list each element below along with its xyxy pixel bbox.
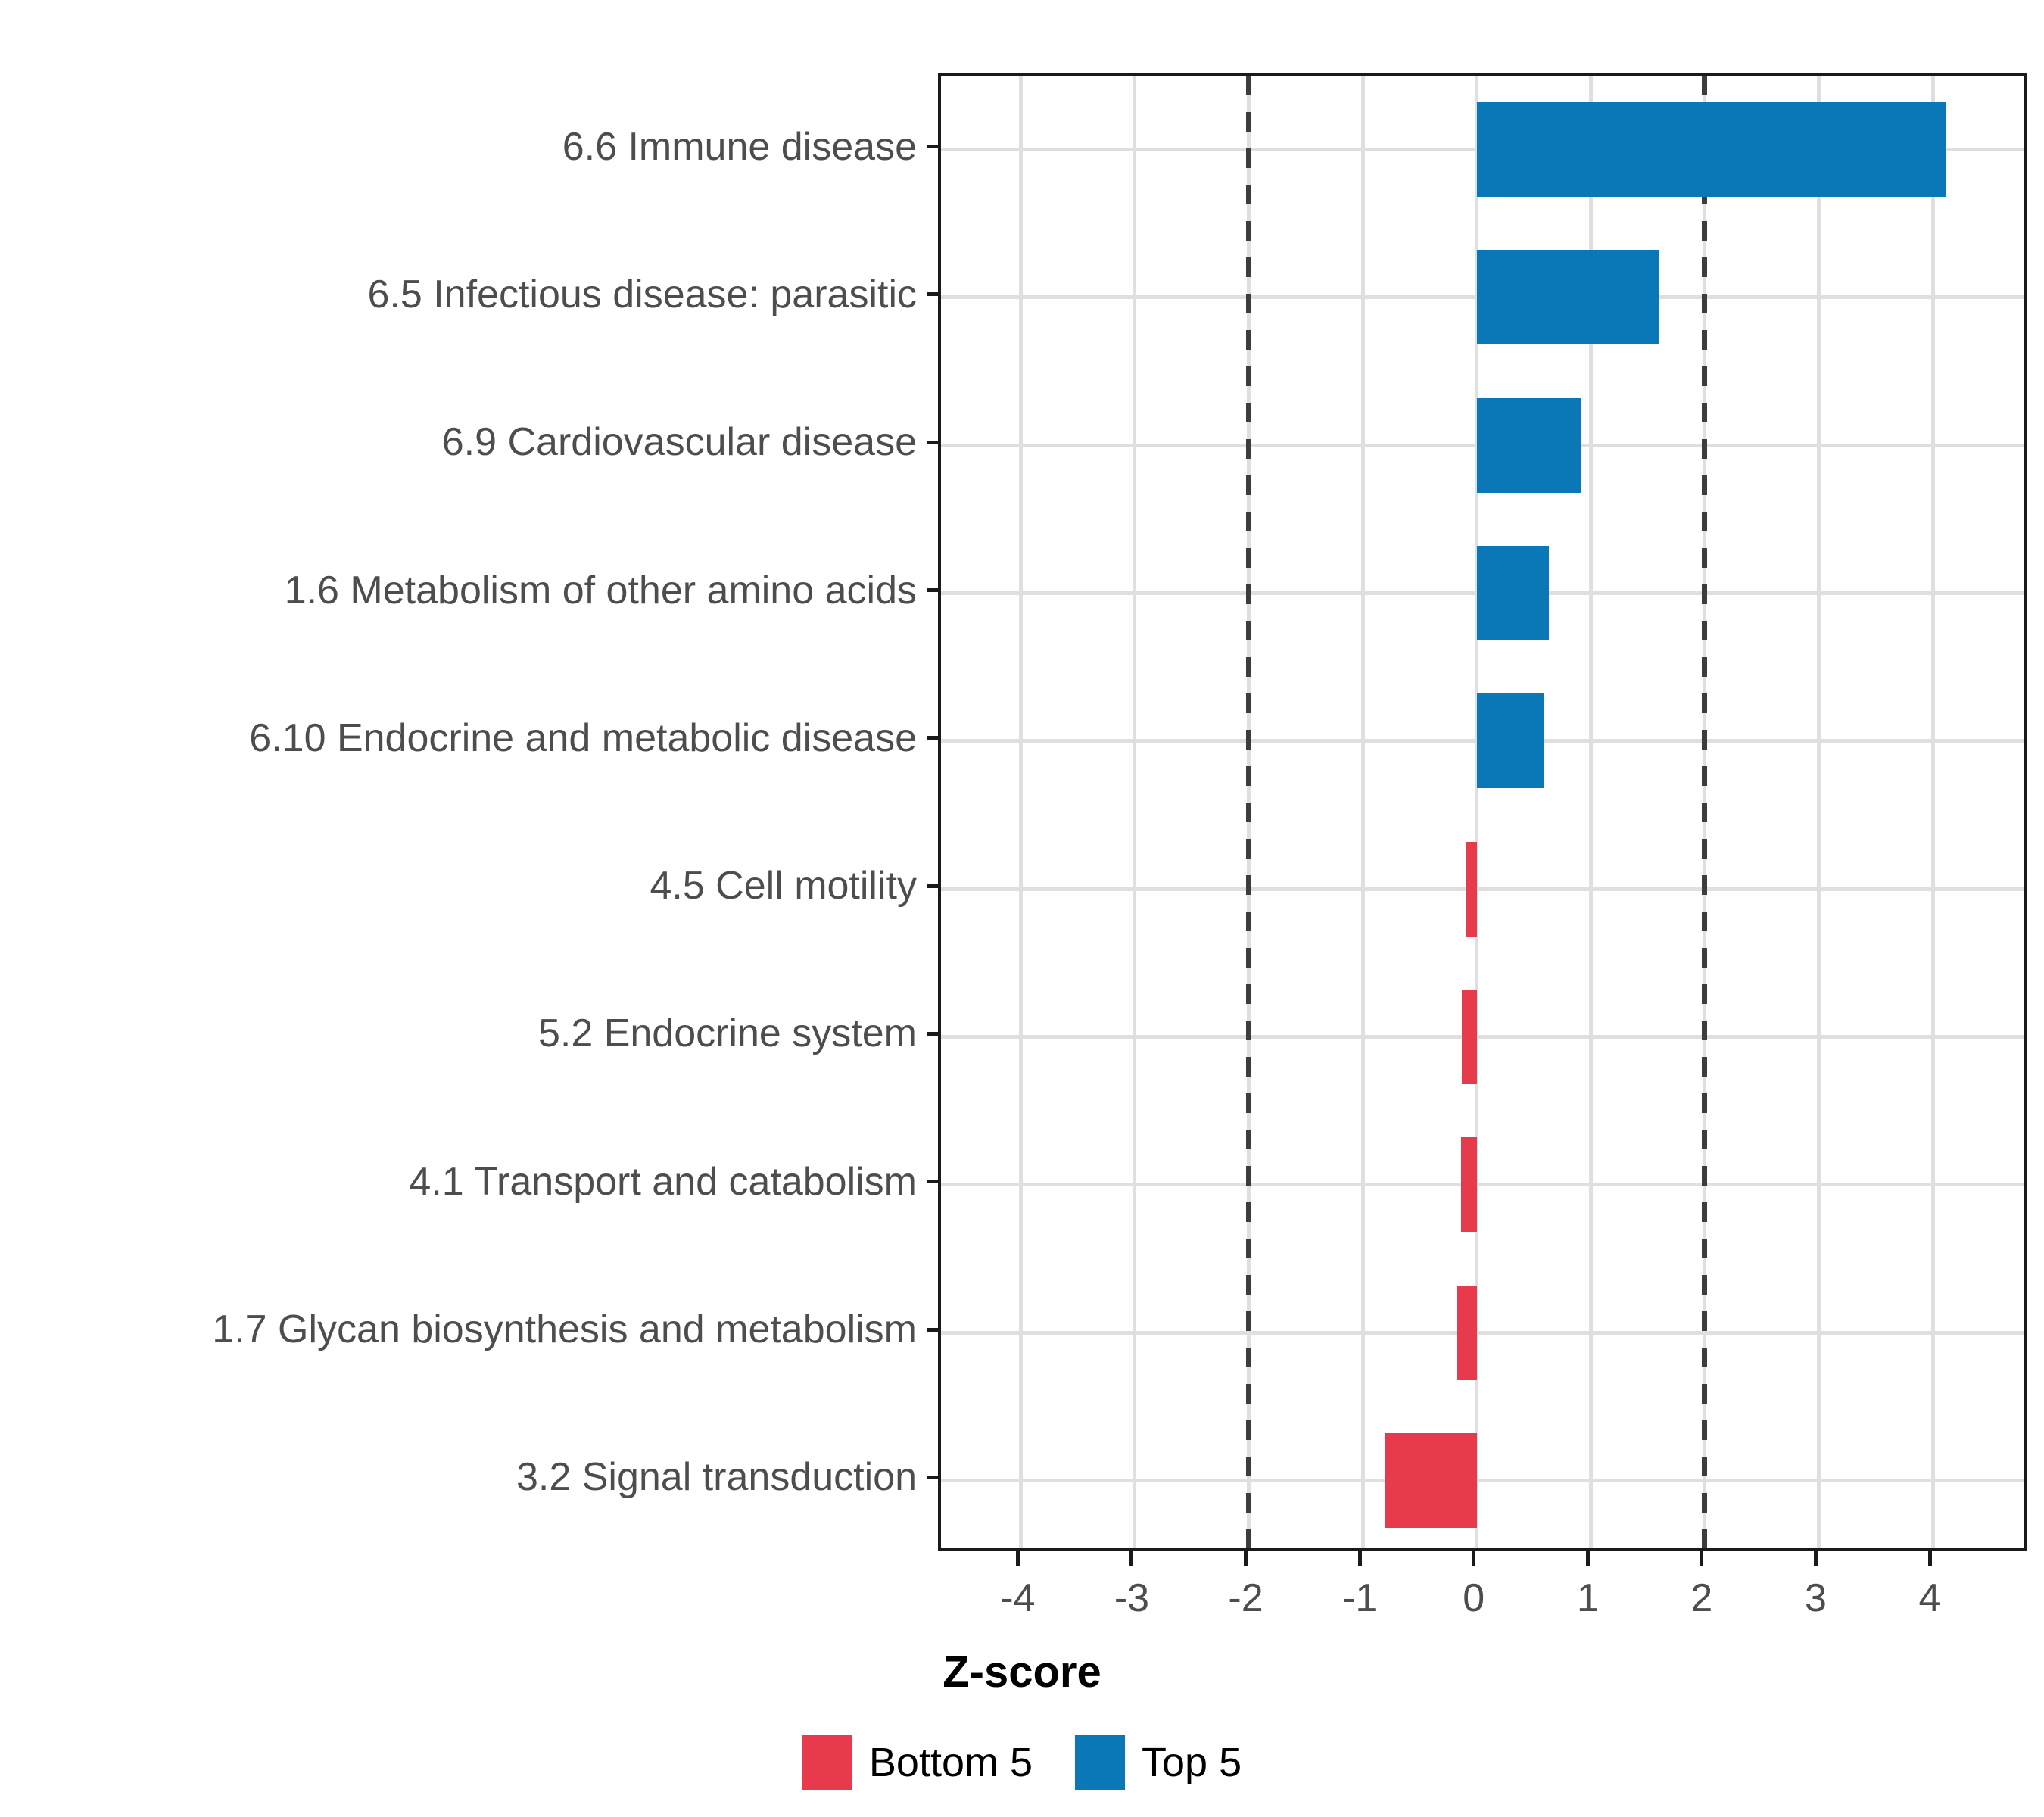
reference-line [1246,76,1251,1548]
y-axis-label: 4.1 Transport and catabolism [0,1162,917,1201]
x-axis-tick-label: 2 [1690,1579,1712,1618]
x-axis-tick [1586,1551,1590,1566]
y-axis-label: 4.5 Cell motility [0,866,917,905]
x-axis-tick [1358,1551,1362,1566]
x-axis-tick-label: 4 [1919,1579,1941,1618]
x-axis-tick [1016,1551,1020,1566]
horizontal-gridline [941,1035,2024,1039]
horizontal-gridline [941,1479,2024,1482]
y-axis-tick [927,292,938,296]
legend-swatch-icon [1075,1735,1125,1790]
x-axis-tick-label: -1 [1342,1579,1377,1618]
bar[interactable] [1457,1286,1477,1380]
y-axis-label: 1.6 Metabolism of other amino acids [0,571,917,610]
bar[interactable] [1477,546,1549,640]
legend-swatch-icon [802,1735,852,1790]
x-axis-tick [1700,1551,1703,1566]
bar[interactable] [1462,990,1477,1084]
y-axis-label: 3.2 Signal transduction [0,1457,917,1497]
y-axis-tick [927,736,938,740]
y-axis-tick [927,588,938,592]
bar[interactable] [1477,250,1659,344]
legend-label: Top 5 [1142,1742,1242,1783]
y-axis-tick [927,884,938,888]
legend-item[interactable]: Top 5 [1075,1735,1242,1790]
y-axis-label: 6.5 Infectious disease: parasitic [0,275,917,314]
legend-label: Bottom 5 [869,1742,1033,1783]
x-axis-tick-label: -3 [1114,1579,1149,1618]
bar[interactable] [1477,398,1581,493]
bar[interactable] [1466,842,1477,937]
bar[interactable] [1385,1433,1476,1528]
horizontal-gridline [941,1183,2024,1186]
y-axis-label: 6.10 Endocrine and metabolic disease [0,718,917,758]
x-axis-tick-label: 0 [1463,1579,1485,1618]
y-axis-label: 6.6 Immune disease [0,127,917,167]
y-axis-label: 1.7 Glycan biosynthesis and metabolism [0,1310,917,1349]
x-axis-tick-label: -4 [1000,1579,1035,1618]
x-axis-tick-label: 3 [1805,1579,1827,1618]
horizontal-gridline [941,1331,2024,1335]
x-axis-tick [1129,1551,1133,1566]
x-axis-tick [1244,1551,1248,1566]
y-axis-label: 6.9 Cardiovascular disease [0,422,917,462]
x-axis-tick [1472,1551,1475,1566]
y-axis-tick [927,1180,938,1183]
chart-legend: Bottom 5Top 5 [0,1735,2044,1790]
x-axis-tick [1814,1551,1818,1566]
legend-item[interactable]: Bottom 5 [802,1735,1033,1790]
x-axis-tick-label: 1 [1577,1579,1599,1618]
bar[interactable] [1477,693,1544,788]
bar[interactable] [1461,1137,1477,1232]
y-axis-tick [927,1476,938,1479]
x-axis-tick-label: -2 [1228,1579,1263,1618]
chart-root: 6.6 Immune disease6.5 Infectious disease… [0,0,2044,1817]
plot-panel [938,73,2027,1551]
y-axis-tick [927,441,938,444]
y-axis-tick [927,1328,938,1332]
x-axis-title: Z-score [0,1647,2044,1697]
bar[interactable] [1477,102,1946,197]
y-axis-label: 5.2 Endocrine system [0,1014,917,1053]
y-axis-tick [927,145,938,148]
y-axis-tick [927,1032,938,1036]
horizontal-gridline [941,887,2024,891]
reference-line [1702,76,1707,1548]
x-axis-tick [1928,1551,1932,1566]
